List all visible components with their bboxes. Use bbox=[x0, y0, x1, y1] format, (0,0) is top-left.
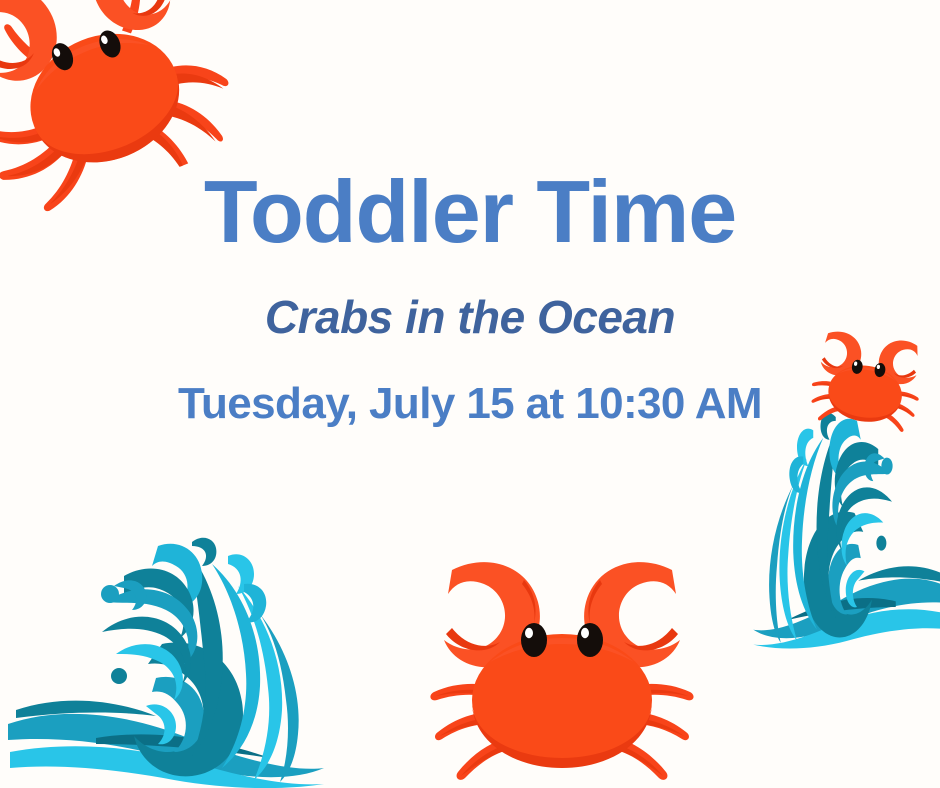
text-block: Toddler Time Crabs in the Ocean Tuesday,… bbox=[0, 168, 940, 426]
poster-canvas: Toddler Time Crabs in the Ocean Tuesday,… bbox=[0, 0, 940, 788]
wave-splash-shapes bbox=[753, 413, 940, 648]
page-title: Toddler Time bbox=[0, 168, 940, 256]
crab-shapes bbox=[430, 562, 693, 780]
crab-center-illustration bbox=[418, 548, 706, 788]
page-subtitle: Crabs in the Ocean bbox=[0, 256, 940, 340]
wave-bottom-left-illustration bbox=[6, 528, 326, 788]
event-datetime: Tuesday, July 15 at 10:30 AM bbox=[0, 340, 940, 426]
wave-splash-shapes bbox=[8, 538, 324, 788]
wave-right-illustration bbox=[752, 404, 940, 650]
